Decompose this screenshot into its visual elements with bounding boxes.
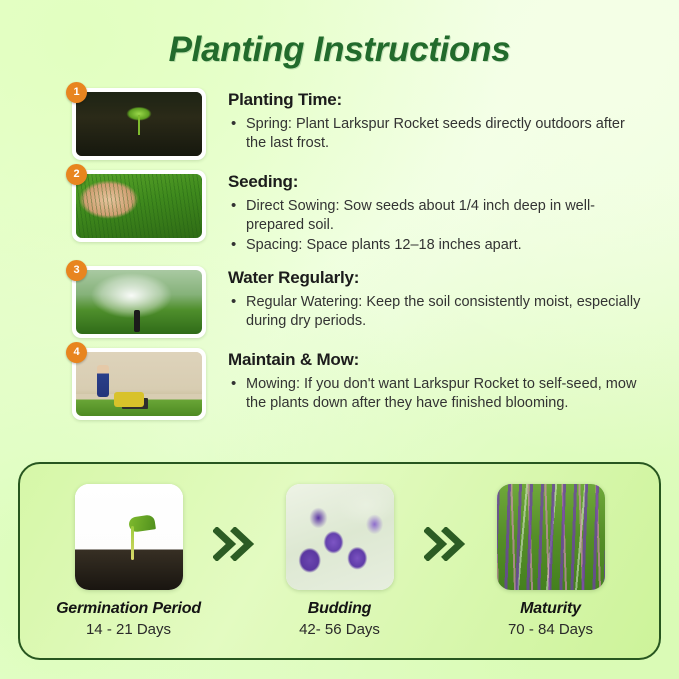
step-bullet: Spacing: Space plants 12–18 inches apart… — [228, 236, 648, 255]
page-title: Planting Instructions — [0, 30, 679, 70]
blooming-larkspur-field-photo — [497, 484, 605, 590]
stage-name: Maturity — [468, 600, 633, 618]
sprouting-seed-in-soil-photo — [75, 484, 183, 590]
step-bullet-list: Direct Sowing: Sow seeds about 1/4 inch … — [228, 197, 648, 255]
double-chevron-right-icon — [422, 527, 468, 561]
person-mowing-lawn-photo — [76, 352, 202, 416]
growth-timeline-panel: Germination Period 14 - 21 Days Budding … — [18, 462, 661, 660]
stage-name: Germination Period — [46, 600, 211, 618]
step-thumbnail — [72, 348, 206, 420]
planting-instructions-infographic: Planting Instructions 1 Planting Time: S… — [0, 0, 679, 679]
step-text-block: Planting Time: Spring: Plant Larkspur Ro… — [228, 88, 648, 154]
step-thumbnail-wrap: 3 — [72, 266, 204, 338]
step-bullet-list: Regular Watering: Keep the soil consiste… — [228, 293, 648, 331]
instruction-step: 2 Seeding: Direct Sowing: Sow seeds abou… — [0, 170, 679, 256]
stage-name: Budding — [257, 600, 422, 618]
hands-holding-soil-seedling-photo — [76, 92, 202, 156]
step-bullet-list: Spring: Plant Larkspur Rocket seeds dire… — [228, 115, 648, 153]
step-bullet: Regular Watering: Keep the soil consiste… — [228, 293, 648, 331]
step-thumbnail-wrap: 4 — [72, 348, 204, 420]
step-bullet: Direct Sowing: Sow seeds about 1/4 inch … — [228, 197, 648, 235]
instruction-step: 4 Maintain & Mow: Mowing: If you don't w… — [0, 348, 679, 420]
step-number-badge: 3 — [66, 260, 87, 281]
step-bullet: Spring: Plant Larkspur Rocket seeds dire… — [228, 115, 648, 153]
step-thumbnail — [72, 170, 206, 242]
step-thumbnail — [72, 88, 206, 160]
growth-stage: Budding 42- 56 Days — [257, 484, 422, 638]
step-text-block: Water Regularly: Regular Watering: Keep … — [228, 266, 648, 332]
step-heading: Seeding: — [228, 172, 648, 192]
purple-larkspur-buds-photo — [286, 484, 394, 590]
step-heading: Planting Time: — [228, 90, 648, 110]
step-bullet-list: Mowing: If you don't want Larkspur Rocke… — [228, 375, 648, 413]
instruction-steps-list: 1 Planting Time: Spring: Plant Larkspur … — [0, 88, 679, 430]
step-number-badge: 4 — [66, 342, 87, 363]
step-heading: Water Regularly: — [228, 268, 648, 288]
instruction-step: 1 Planting Time: Spring: Plant Larkspur … — [0, 88, 679, 160]
double-chevron-right-icon — [211, 527, 257, 561]
step-heading: Maintain & Mow: — [228, 350, 648, 370]
growth-stage: Maturity 70 - 84 Days — [468, 484, 633, 638]
step-thumbnail-wrap: 2 — [72, 170, 204, 242]
step-bullet: Mowing: If you don't want Larkspur Rocke… — [228, 375, 648, 413]
step-thumbnail-wrap: 1 — [72, 88, 204, 160]
stage-duration: 70 - 84 Days — [468, 621, 633, 638]
hand-sowing-seeds-on-grass-photo — [76, 174, 202, 238]
step-text-block: Seeding: Direct Sowing: Sow seeds about … — [228, 170, 648, 256]
stage-duration: 42- 56 Days — [257, 621, 422, 638]
lawn-sprinkler-watering-photo — [76, 270, 202, 334]
step-thumbnail — [72, 266, 206, 338]
step-number-badge: 1 — [66, 82, 87, 103]
growth-stage: Germination Period 14 - 21 Days — [46, 484, 211, 638]
instruction-step: 3 Water Regularly: Regular Watering: Kee… — [0, 266, 679, 338]
stage-duration: 14 - 21 Days — [46, 621, 211, 638]
step-text-block: Maintain & Mow: Mowing: If you don't wan… — [228, 348, 648, 414]
step-number-badge: 2 — [66, 164, 87, 185]
